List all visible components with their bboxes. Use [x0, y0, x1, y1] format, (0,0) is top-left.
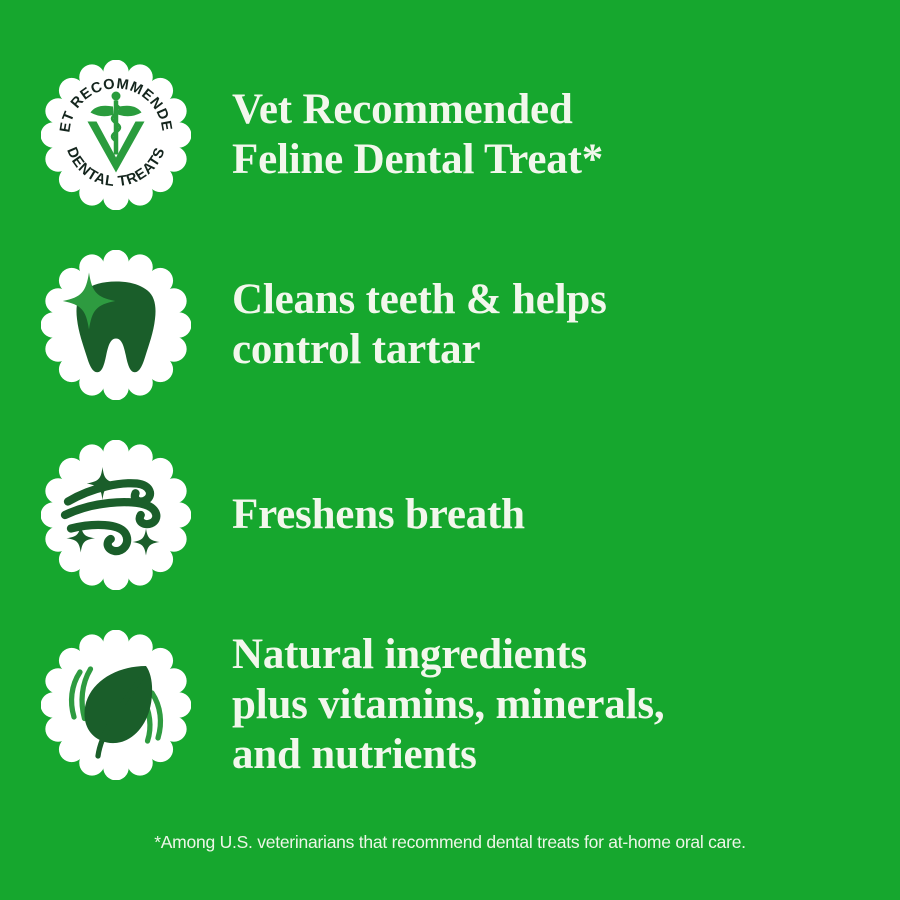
fresh-breath-wind-icon	[41, 440, 191, 590]
feature-line: control tartar	[232, 326, 480, 373]
feature-headline: Cleans teeth & helps control tartar	[232, 275, 860, 375]
vet-recommended-seal-icon: VET RECOMMENDED DENTAL TREATS	[41, 60, 191, 210]
badge-cell	[0, 440, 232, 590]
feature-headline: Natural ingredients plus vitamins, miner…	[232, 630, 860, 780]
feature-row: VET RECOMMENDED DENTAL TREATS	[0, 40, 900, 230]
feature-row: Cleans teeth & helps control tartar	[0, 230, 900, 420]
feature-line: Natural ingredients	[232, 631, 587, 678]
feature-line: Vet Recommended	[232, 86, 573, 133]
feature-list: VET RECOMMENDED DENTAL TREATS	[0, 40, 900, 800]
text-cell: Vet Recommended Feline Dental Treat*	[232, 85, 900, 185]
feature-line: Feline Dental Treat*	[232, 136, 603, 183]
text-cell: Natural ingredients plus vitamins, miner…	[232, 630, 900, 780]
feature-headline: Vet Recommended Feline Dental Treat*	[232, 85, 860, 185]
feature-row: Freshens breath	[0, 420, 900, 610]
feature-line: Cleans teeth & helps	[232, 276, 607, 323]
product-benefits-poster: VET RECOMMENDED DENTAL TREATS	[0, 0, 900, 900]
natural-leaf-icon	[41, 630, 191, 780]
badge-cell	[0, 630, 232, 780]
text-cell: Cleans teeth & helps control tartar	[232, 275, 900, 375]
sparkling-tooth-icon	[41, 250, 191, 400]
feature-row: Natural ingredients plus vitamins, miner…	[0, 610, 900, 800]
feature-line: Freshens breath	[232, 491, 525, 538]
feature-line: and nutrients	[232, 731, 477, 778]
badge-cell: VET RECOMMENDED DENTAL TREATS	[0, 60, 232, 210]
text-cell: Freshens breath	[232, 490, 900, 540]
feature-headline: Freshens breath	[232, 490, 860, 540]
feature-line: plus vitamins, minerals,	[232, 681, 664, 728]
badge-cell	[0, 250, 232, 400]
footnote-disclaimer: *Among U.S. veterinarians that recommend…	[0, 832, 900, 853]
